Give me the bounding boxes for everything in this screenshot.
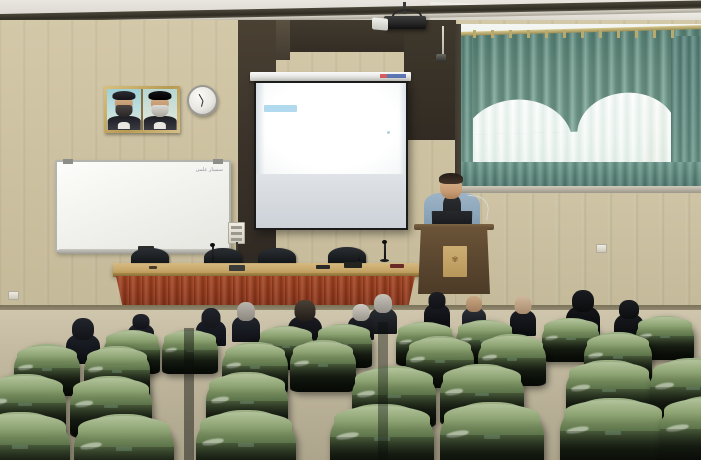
slide-accent-bar bbox=[264, 105, 297, 112]
curtain-hem bbox=[455, 162, 701, 188]
camera-pole bbox=[442, 26, 444, 56]
framed-portraits bbox=[104, 86, 180, 133]
slide-cursor-dot bbox=[387, 131, 390, 134]
audience-seat[interactable] bbox=[196, 410, 296, 460]
table-item-small bbox=[149, 266, 157, 269]
slide-content-area bbox=[256, 83, 406, 174]
podium-emblem-plaque: ✾ bbox=[443, 246, 467, 277]
seat-aisle-gap bbox=[184, 328, 194, 460]
audience-seat[interactable] bbox=[290, 340, 356, 392]
screen-edge-shadow-left bbox=[256, 83, 265, 174]
microphone-head-icon bbox=[210, 243, 215, 247]
table-item-nameplate bbox=[316, 265, 330, 269]
table-item-papers bbox=[390, 264, 404, 268]
conference-hall-photo: سمینار علمی bbox=[0, 0, 701, 460]
audience-person bbox=[510, 296, 536, 336]
wall-dark-band-right bbox=[404, 20, 456, 140]
curtain-valance bbox=[455, 29, 701, 135]
wall-switch-panel[interactable] bbox=[228, 222, 245, 244]
presenter-hair bbox=[439, 173, 463, 184]
portrait-right bbox=[143, 89, 177, 130]
audience-seat[interactable] bbox=[440, 402, 544, 460]
whiteboard-note-text: سمینار علمی bbox=[196, 167, 223, 173]
whiteboard: سمینار علمی bbox=[55, 160, 231, 252]
wall-switch-icon bbox=[596, 244, 607, 253]
portrait-left bbox=[107, 89, 141, 130]
window-with-curtains bbox=[455, 24, 701, 188]
table-microphone bbox=[358, 250, 360, 261]
seat-aisle-gap bbox=[378, 322, 388, 460]
projection-screen bbox=[254, 81, 408, 230]
window-sill bbox=[455, 186, 701, 193]
microphone-head-icon bbox=[382, 240, 387, 244]
projector-lens-icon bbox=[372, 17, 388, 30]
audience-seat[interactable] bbox=[74, 414, 174, 460]
table-item-equipment bbox=[344, 262, 362, 268]
screen-brand-logo-icon bbox=[380, 74, 406, 78]
ceiling-projector-icon bbox=[384, 16, 426, 29]
table-item-book bbox=[229, 265, 245, 271]
audience-person bbox=[232, 302, 260, 342]
audience-seat[interactable] bbox=[0, 412, 70, 460]
table-microphone bbox=[384, 243, 386, 259]
window-side-frame-dark bbox=[455, 24, 461, 188]
ceiling-camera-icon bbox=[436, 54, 446, 62]
screen-edge-shadow-right bbox=[399, 83, 407, 174]
wall-dark-column-secondary bbox=[276, 20, 290, 60]
audience-seat[interactable] bbox=[660, 396, 701, 460]
microphone-base bbox=[380, 259, 389, 262]
screen-roller-case bbox=[250, 72, 411, 81]
table-microphone bbox=[212, 246, 214, 262]
audience-seat[interactable] bbox=[560, 398, 666, 460]
wall-outlet-icon bbox=[8, 291, 19, 300]
podium-emblem-icon: ✾ bbox=[449, 251, 461, 270]
wall-clock-icon bbox=[187, 85, 218, 116]
